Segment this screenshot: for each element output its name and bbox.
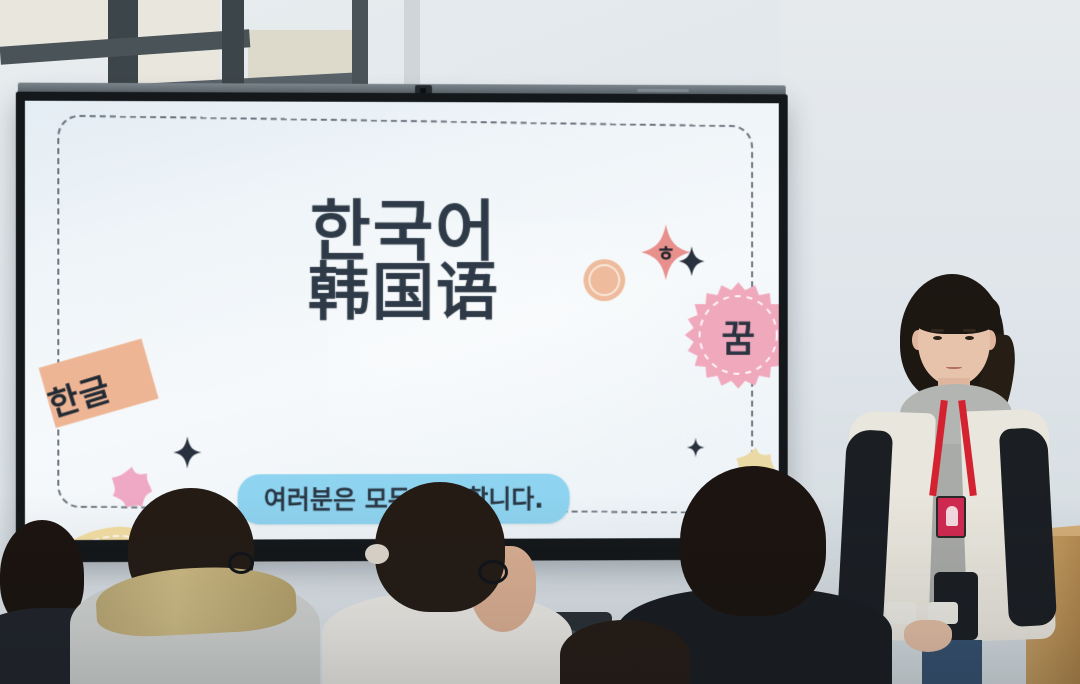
sparkle-icon-4 (687, 438, 705, 458)
presenter-hands (904, 620, 952, 652)
audience-head (680, 466, 826, 616)
display-screen[interactable]: 한글 안녕 꿈 ㅎ (25, 101, 779, 540)
presenter-sleeve-right (999, 427, 1057, 627)
presenter-eye-right (965, 336, 974, 340)
audience-glasses (228, 552, 254, 574)
presenter-brow-right (963, 329, 976, 332)
interactive-whiteboard[interactable]: 한글 안녕 꿈 ㅎ (16, 92, 788, 563)
slide-title: 한국어 韩国语 (25, 197, 779, 324)
audience-member-back-row (560, 620, 690, 684)
speaker-grille-icon (637, 89, 689, 92)
audience-glasses (478, 560, 508, 584)
presenter-cuff-left (886, 602, 916, 624)
classroom-scene: 한글 안녕 꿈 ㅎ (0, 0, 1080, 684)
window-pane-a (0, 0, 108, 46)
presenter-brow-left (931, 329, 944, 332)
sparkle-icon-2 (173, 436, 201, 468)
window-post (222, 0, 244, 96)
presenter-bangs (910, 288, 1000, 334)
audience-hair-tie (365, 544, 389, 564)
slide-title-hanzi: 韩国语 (25, 261, 779, 325)
pipe (404, 0, 420, 92)
presenter-id-badge (936, 496, 966, 538)
decor-star-pink (111, 466, 153, 508)
audience-head (375, 482, 505, 612)
presenter-mouth (946, 364, 962, 369)
presenter-eye-left (933, 336, 942, 340)
